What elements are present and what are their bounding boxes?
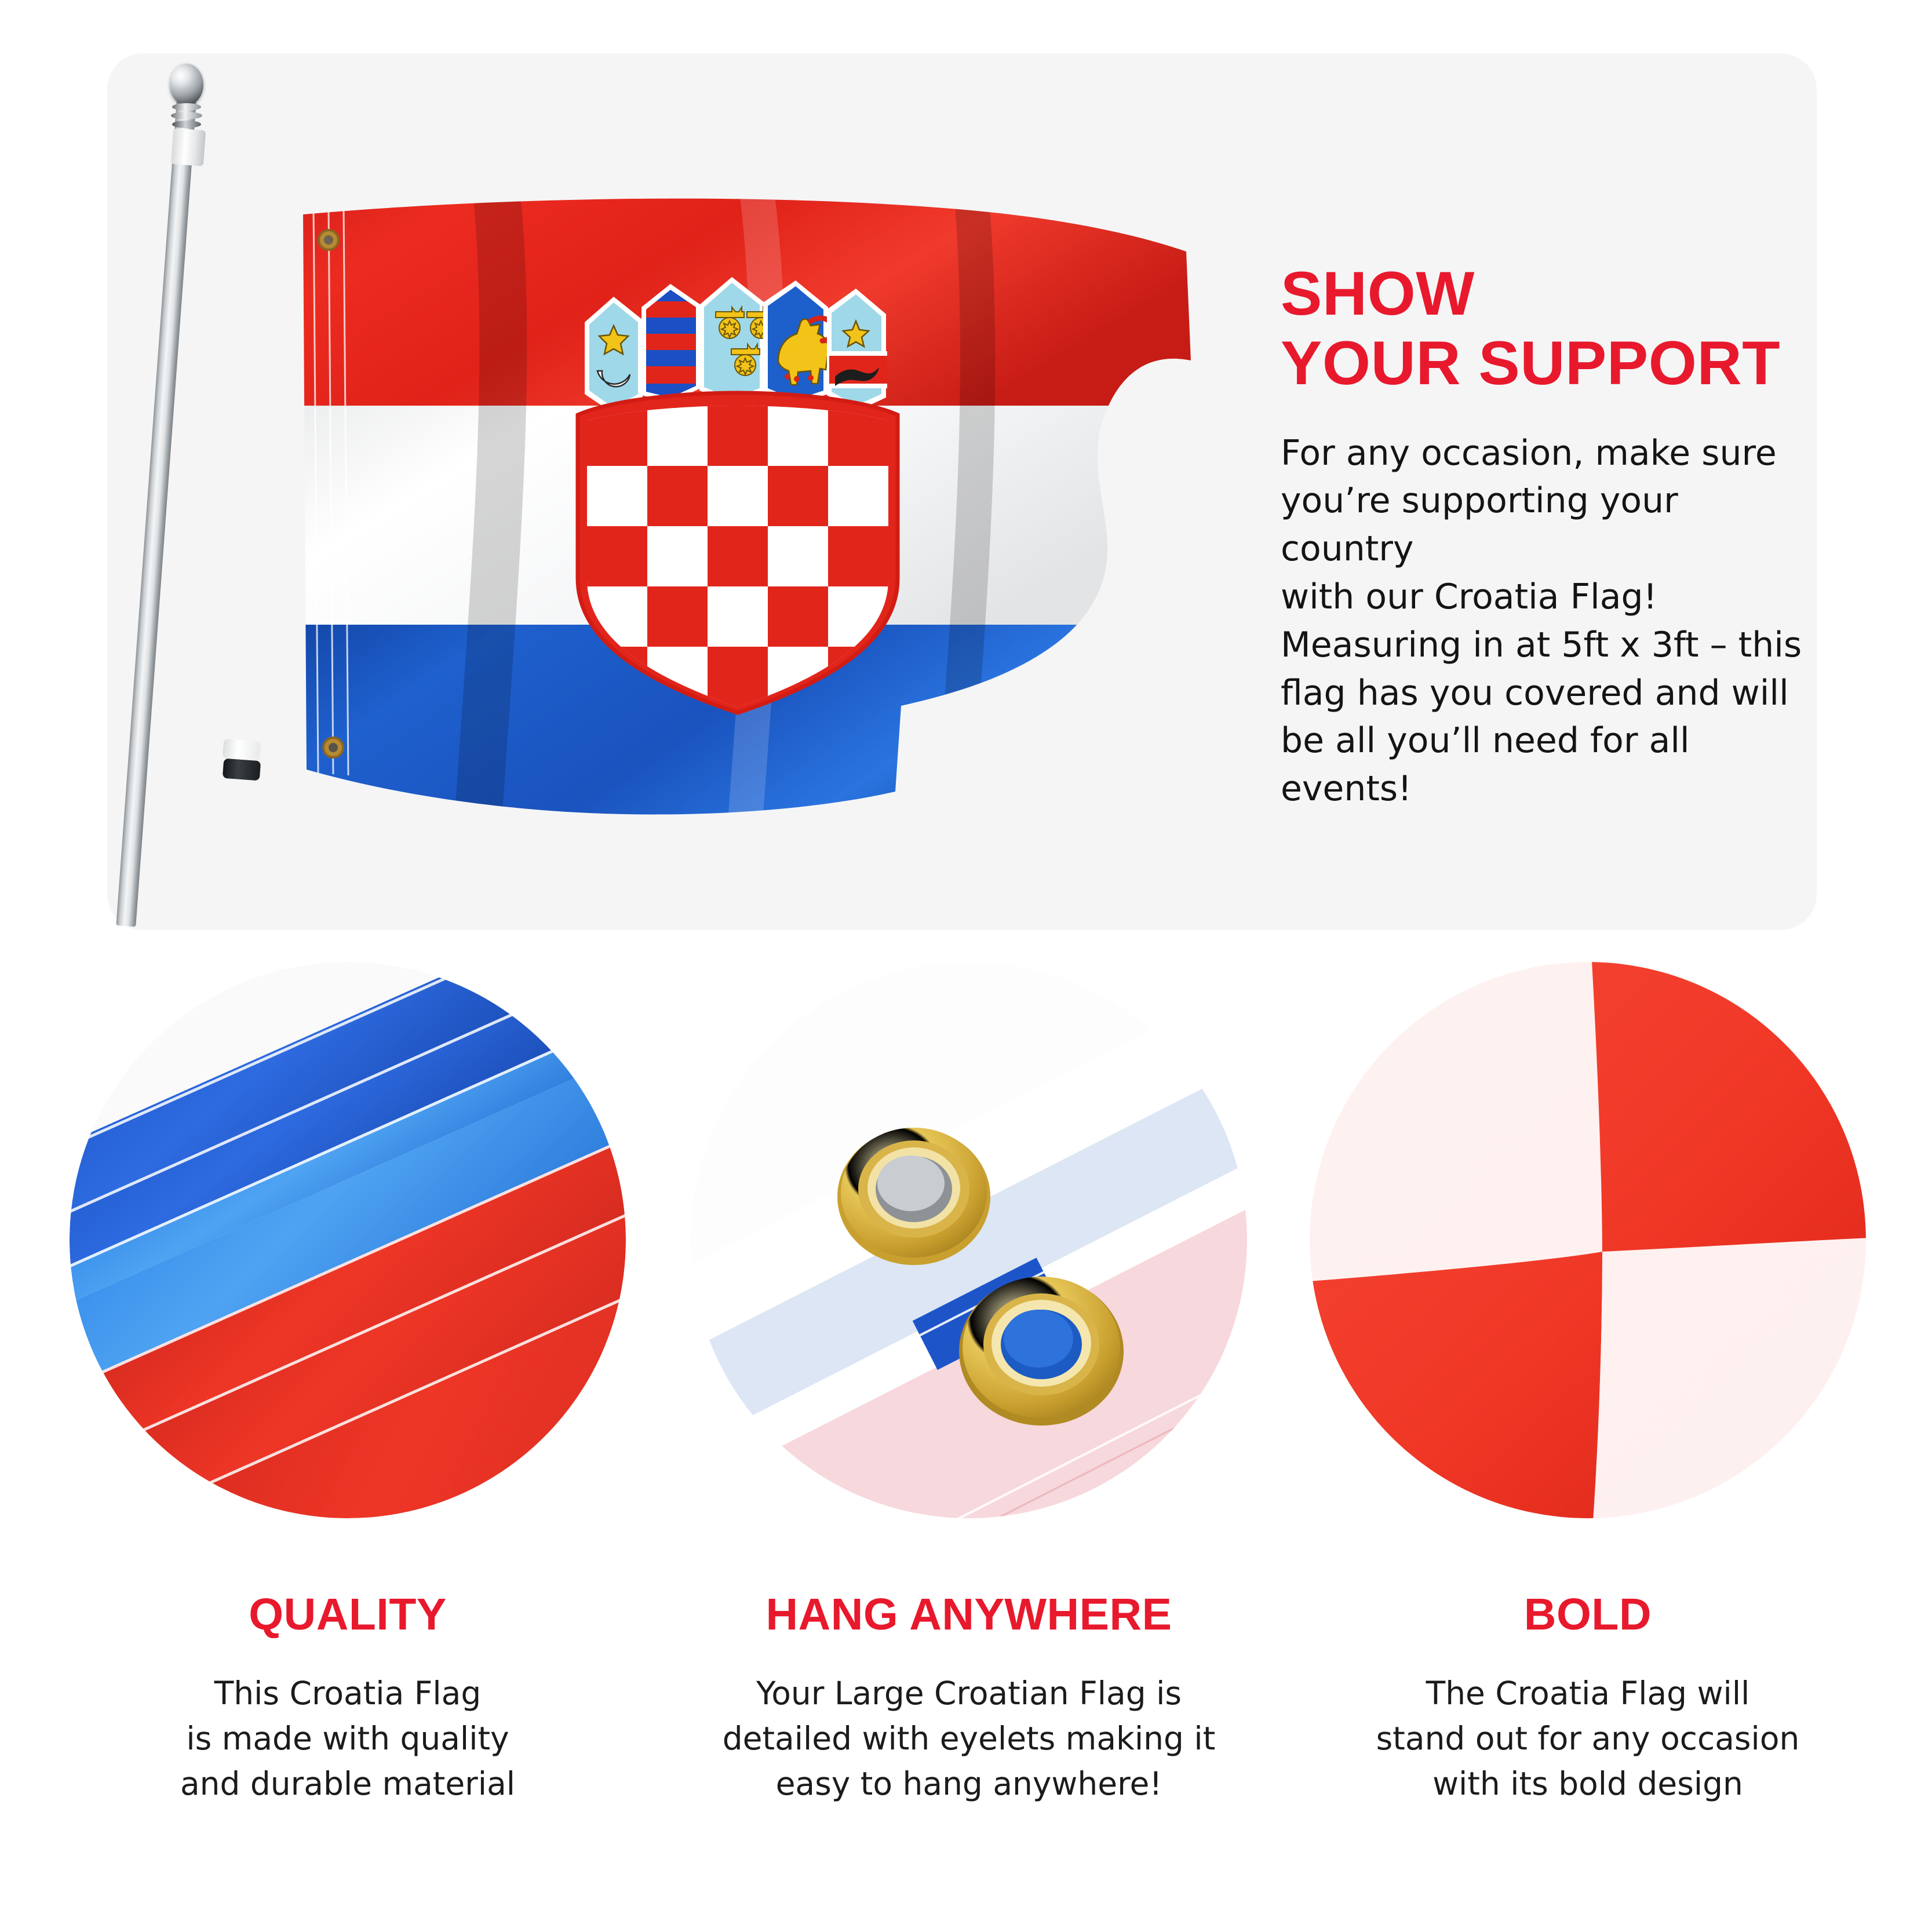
feature-desc-quality: This Croatia Flag is made with quality a…	[32, 1637, 664, 1806]
headline-line-2: YOUR SUPPORT	[1281, 329, 1802, 398]
feature-desc-line-2: is made with quality	[32, 1716, 664, 1761]
feature-desc-line-1: The Croatia Flag will	[1272, 1671, 1904, 1716]
croatia-flag-graphic	[298, 187, 1202, 830]
feature-photo-fabric-stripes	[70, 962, 626, 1518]
feature-title-hang-anywhere: HANG ANYWHERE	[653, 1518, 1285, 1637]
feature-photo-checkerboard	[1310, 962, 1866, 1518]
feature-desc-line-3: and durable material	[32, 1761, 664, 1806]
feature-desc-line-3: easy to hang anywhere!	[653, 1761, 1285, 1806]
eyelet-upper	[837, 1128, 990, 1265]
flagpole-finial-ball-icon	[170, 64, 203, 105]
flagpole-clip-ring-white	[223, 739, 261, 761]
feature-desc-line-3: with its bold design	[1272, 1761, 1904, 1806]
headline-line-1: SHOW	[1281, 259, 1802, 329]
finial-ring-3	[172, 121, 201, 128]
feature-photo-eyelets	[691, 962, 1247, 1518]
body-line-4: Measuring in at 5ft x 3ft – this	[1281, 621, 1802, 669]
body-line-7: events!	[1281, 765, 1802, 813]
flagpole-collar	[171, 128, 206, 166]
flagpole	[116, 99, 196, 927]
crown-shield-stripes	[641, 284, 705, 402]
feature-quality: QUALITY This Croatia Flag is made with q…	[32, 962, 664, 1806]
feature-grid: QUALITY This Croatia Flag is made with q…	[0, 962, 1932, 1932]
hero-copy-block: SHOW YOUR SUPPORT For any occasion, make…	[1281, 259, 1802, 813]
body-line-6: be all you’ll need for all	[1281, 717, 1802, 765]
feature-bold: BOLD The Croatia Flag will stand out for…	[1272, 962, 1904, 1806]
feature-hang-anywhere: HANG ANYWHERE Your Large Croatian Flag i…	[653, 962, 1285, 1806]
feature-desc-bold: The Croatia Flag will stand out for any …	[1272, 1637, 1904, 1806]
feature-desc-hang-anywhere: Your Large Croatian Flag is detailed wit…	[653, 1637, 1285, 1806]
hero-description: For any occasion, make sure you’re suppo…	[1281, 398, 1802, 813]
feature-desc-line-2: detailed with eyelets making it	[653, 1716, 1285, 1761]
hero-panel: SHOW YOUR SUPPORT For any occasion, make…	[107, 53, 1817, 930]
flag-product-photo	[107, 53, 1208, 930]
flagpole-clip-ring-black	[223, 759, 261, 781]
body-line-1: For any occasion, make sure	[1281, 429, 1802, 477]
croatia-coat-of-arms	[578, 277, 898, 713]
finial-ring-2	[171, 112, 202, 119]
finial-ring-1	[172, 103, 201, 111]
page-title: SHOW YOUR SUPPORT	[1281, 259, 1802, 398]
feature-title-bold: BOLD	[1272, 1518, 1904, 1637]
body-line-2: you’re supporting your country	[1281, 477, 1802, 573]
body-line-5: flag has you covered and will	[1281, 669, 1802, 717]
body-line-3: with our Croatia Flag!	[1281, 573, 1802, 621]
feature-desc-line-1: Your Large Croatian Flag is	[653, 1671, 1285, 1716]
feature-desc-line-2: stand out for any occasion	[1272, 1716, 1904, 1761]
feature-desc-line-1: This Croatia Flag	[32, 1671, 664, 1716]
eyelet-lower	[959, 1277, 1124, 1426]
feature-title-quality: QUALITY	[32, 1518, 664, 1637]
